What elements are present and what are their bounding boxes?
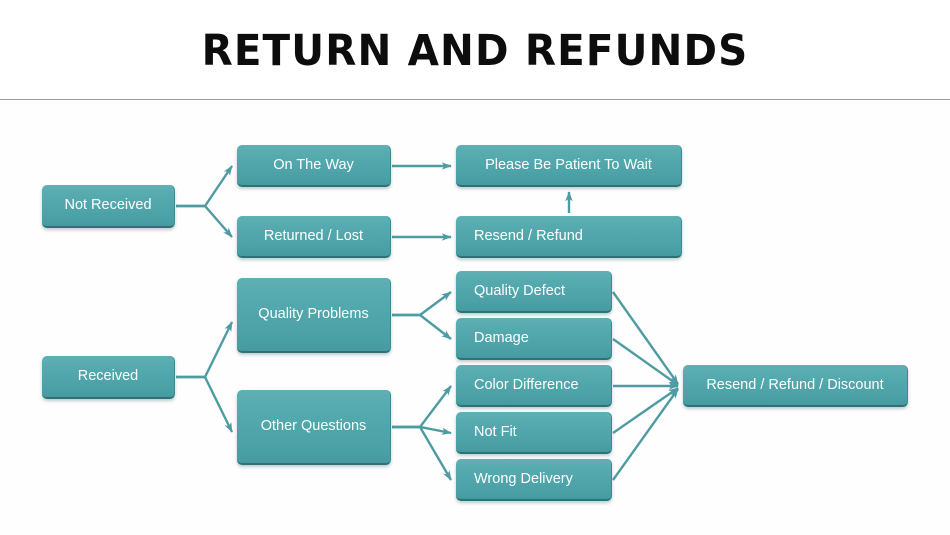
node-label: Not Fit [474,424,517,441]
edge-wrong-delivery-final [613,389,678,480]
node-label: Wrong Delivery [474,471,573,488]
node-label: Damage [474,330,529,347]
node-not-received[interactable]: Not Received [42,185,175,228]
node-quality-defect[interactable]: Quality Defect [456,271,612,313]
node-not-fit[interactable]: Not Fit [456,412,612,454]
node-label: Received [78,368,138,385]
node-label: Quality Problems [258,306,368,323]
node-resend-refund-discount[interactable]: Resend / Refund / Discount [683,365,908,407]
edge-not-received-on-the-way [176,166,232,206]
node-color-difference[interactable]: Color Difference [456,365,612,407]
node-label: Resend / Refund / Discount [706,377,883,394]
edge-received-other-questions [176,377,232,432]
edge-quality-defect-final [613,292,678,384]
page-title: RETURN AND REFUNDS [29,26,922,76]
edge-other-questions-wrong-delivery [392,427,451,480]
edge-not-fit-final [613,388,678,433]
node-label: Quality Defect [474,283,565,300]
node-label: Resend / Refund [474,228,583,245]
edge-quality-problems-quality-defect [392,292,451,315]
node-label: Please Be Patient To Wait [485,157,652,174]
node-label: Other Questions [261,418,367,435]
slide-header: RETURN AND REFUNDS [0,0,950,100]
edge-quality-problems-damage [392,315,451,339]
node-quality-problems[interactable]: Quality Problems [237,278,391,353]
slide-canvas: RETURN AND REFUNDS [0,0,950,535]
flowchart-diagram: Not Received On The Way Returned / Lost … [0,100,950,535]
node-label: On The Way [273,157,354,174]
edge-received-quality-problems [176,322,232,377]
edge-not-received-returned-lost [176,206,232,237]
edge-damage-final [613,339,678,385]
node-wrong-delivery[interactable]: Wrong Delivery [456,459,612,501]
node-on-the-way[interactable]: On The Way [237,145,391,187]
node-resend-refund[interactable]: Resend / Refund [456,216,682,258]
node-please-be-patient-to-wait[interactable]: Please Be Patient To Wait [456,145,682,187]
edge-other-questions-color-difference [392,386,451,427]
node-label: Not Received [64,197,151,214]
node-returned-lost[interactable]: Returned / Lost [237,216,391,258]
node-label: Color Difference [474,377,579,394]
node-damage[interactable]: Damage [456,318,612,360]
node-other-questions[interactable]: Other Questions [237,390,391,465]
node-received[interactable]: Received [42,356,175,399]
node-label: Returned / Lost [264,228,363,245]
